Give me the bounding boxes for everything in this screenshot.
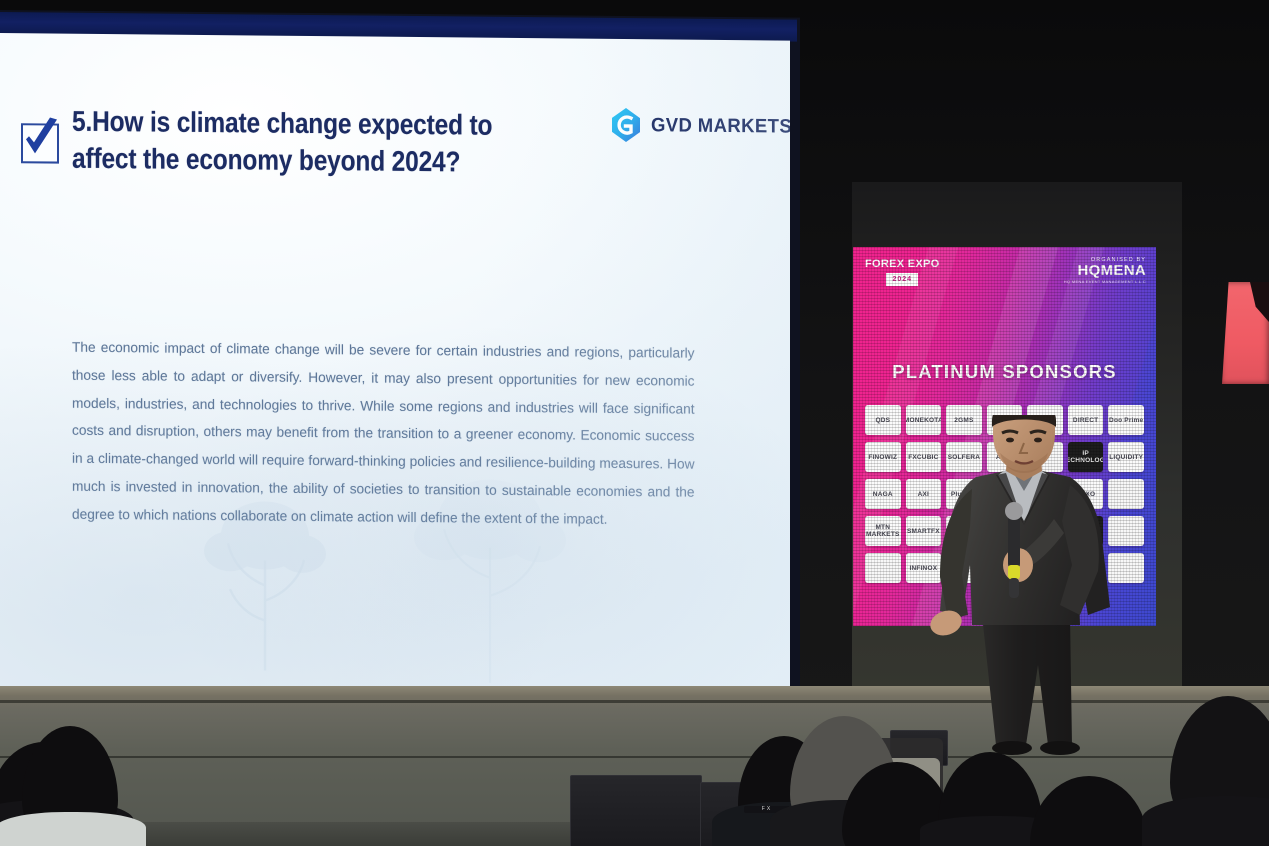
organiser-logo: ORGANISED BY HQMENA HQ MENA EVENT MANAGE… [1064,257,1146,284]
presentation-slide: 5.How is climate change expected to affe… [0,33,790,694]
conference-photo-scene: 5.How is climate change expected to affe… [0,0,1269,846]
speaker-person [920,415,1135,800]
stage-monitor-speaker [570,775,702,846]
organised-by-label: ORGANISED BY [1064,257,1146,263]
platinum-sponsors-heading: PLATINUM SPONSORS [853,361,1156,383]
gvd-diamond-logo-icon [610,107,642,143]
checkbox-checked-icon [19,117,59,161]
sponsor-logo-tile: MTN MARKETS [865,516,901,546]
forex-expo-logo: FOREX EXPO 2024 [865,259,940,286]
organiser-subtitle: HQ MENA EVENT MANAGEMENT L.L.C [1064,279,1146,284]
speaker-trousers [982,615,1072,745]
slide-title-line-2: affect the economy beyond 2024? [72,141,519,182]
brand-name-text: GVD MARKETS [651,114,790,138]
sponsor-logo-tile: NAGA [865,479,901,509]
forex-expo-year: 2024 [886,273,918,287]
checkmark-icon [19,117,61,163]
audience-shoulders [1142,796,1269,846]
sponsor-logo-tile: FINOWIZ [865,442,901,472]
forex-expo-name: FOREX EXPO [865,259,940,271]
slide-body-text: The economic impact of climate change wi… [72,334,695,535]
sponsor-logo-tile [865,553,901,583]
sponsor-logo-tile: QDS [865,405,901,435]
gvd-markets-brand: GVD MARKETS [610,107,790,145]
slide-title: 5.How is climate change expected to affe… [72,104,519,182]
organiser-name: HQMENA [1064,263,1146,279]
audience-shoulders [0,812,146,846]
slide-title-line-1: 5.How is climate change expected to [72,104,519,145]
microphone-band [1008,565,1020,579]
